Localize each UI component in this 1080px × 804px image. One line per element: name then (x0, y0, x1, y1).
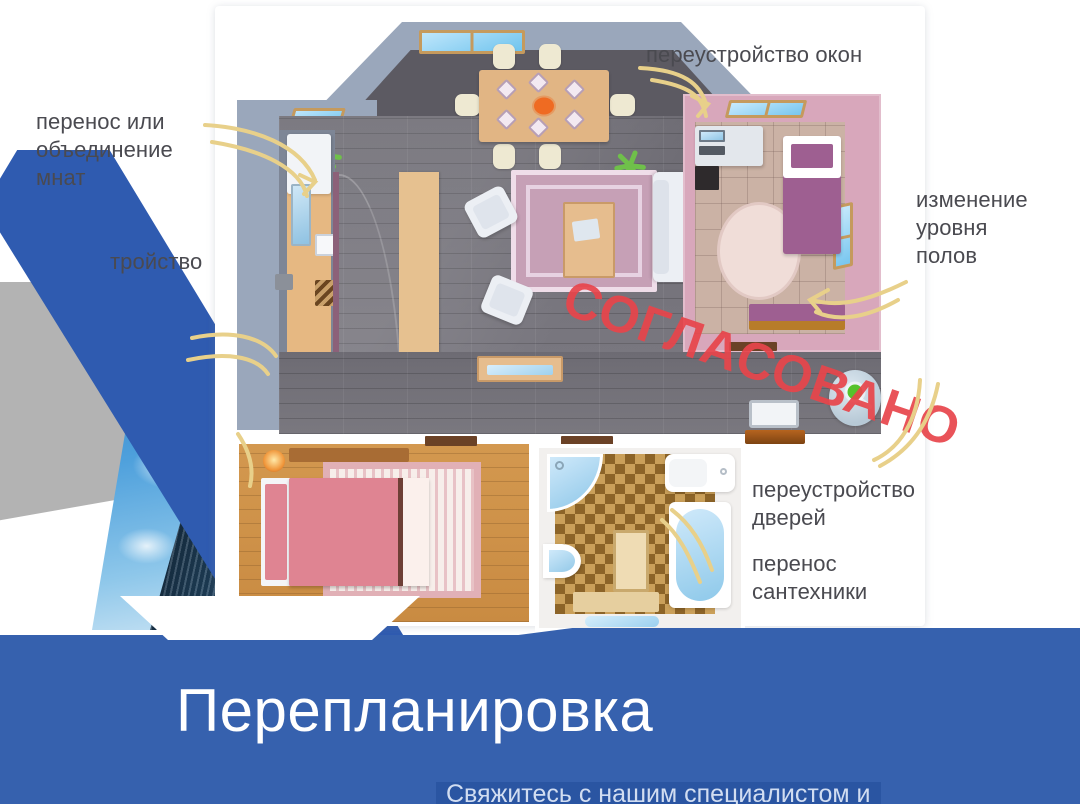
dark-cabinet (695, 166, 719, 190)
toilet (665, 454, 735, 492)
bedroom-window-top-icon (725, 100, 807, 118)
headboard-shelf (289, 448, 409, 462)
annotation-reno: тройство (110, 248, 330, 276)
door-threshold (425, 436, 477, 446)
bath-towel-icon (585, 616, 659, 627)
annotation-floors: изменение уровня полов (916, 186, 1076, 270)
plate-icon (496, 109, 517, 130)
television-icon (699, 130, 725, 142)
annotation-floors-line3: полов (916, 242, 1076, 270)
kitchen-sink (291, 184, 311, 246)
bedroom-lower (239, 444, 529, 622)
annotation-floors-line1: изменение (916, 186, 1076, 214)
banner-subtitle: Свяжитесь с нашим специалистом и (436, 782, 881, 804)
bath-mat (613, 530, 649, 592)
annotation-windows: переустройство окон (646, 41, 862, 69)
annotation-plumbing: перенос сантехники (752, 550, 952, 606)
banner-subtitle-clip: Свяжитесь с нашим специалистом и (380, 782, 1080, 804)
dining-chair (539, 44, 561, 69)
slide-canvas: СОГЛАСОВАНО (0, 0, 1080, 804)
bed-lower (289, 478, 429, 586)
wardrobe-tv-unit (695, 126, 763, 166)
console-panel-icon (699, 146, 725, 155)
shower-head-icon (555, 461, 564, 470)
banner-notch-decoration (120, 596, 420, 640)
annotation-reno-line1: тройство (110, 248, 330, 276)
bedside-lamp-icon (263, 450, 285, 472)
bathtub (669, 502, 731, 608)
bed-seam (398, 478, 403, 586)
dining-chair (539, 144, 561, 169)
annotation-rooms-line1: перенос или (36, 108, 246, 136)
coffee-table (563, 202, 615, 278)
annotation-doors-line1: переустройство (752, 476, 962, 504)
bathroom-cabinet (573, 592, 659, 612)
plate-icon (564, 79, 585, 100)
dining-table (479, 70, 609, 142)
plate-icon (528, 117, 549, 138)
range-hood-icon (275, 274, 293, 290)
annotation-doors-line2: дверей (752, 504, 962, 532)
bed-pillow-icon (783, 136, 841, 178)
floor-plan-illustration: СОГЛАСОВАНО (215, 6, 925, 626)
plate-icon (564, 109, 585, 130)
table-centerpiece-icon (534, 98, 554, 115)
bed-right (783, 136, 841, 254)
bed-sheet (403, 478, 429, 586)
annotation-floors-line2: уровня (916, 214, 1076, 242)
plate-icon (528, 72, 549, 93)
dining-chair (493, 144, 515, 169)
bathroom (535, 444, 745, 632)
annotation-windows-line1: переустройство окон (646, 41, 862, 69)
annotation-rooms-line3: мнат (36, 164, 246, 192)
bedroom-bench (749, 304, 845, 330)
dining-chair (455, 94, 480, 116)
banner-title: Перепланировка (176, 678, 996, 744)
annotation-rooms: перенос или объединение мнат (36, 108, 246, 192)
annotation-doors: переустройство дверей (752, 476, 962, 532)
plate-icon (496, 79, 517, 100)
flush-button-icon (720, 468, 727, 475)
wash-basin (543, 544, 581, 578)
dining-chair (493, 44, 515, 69)
annotation-rooms-line2: объединение (36, 136, 246, 164)
dining-chair (610, 94, 635, 116)
annotation-plumbing-line1: перенос (752, 550, 952, 578)
annotation-plumbing-line2: сантехники (752, 578, 952, 606)
bed-headboard (261, 478, 291, 586)
bedroom-right (683, 94, 881, 352)
